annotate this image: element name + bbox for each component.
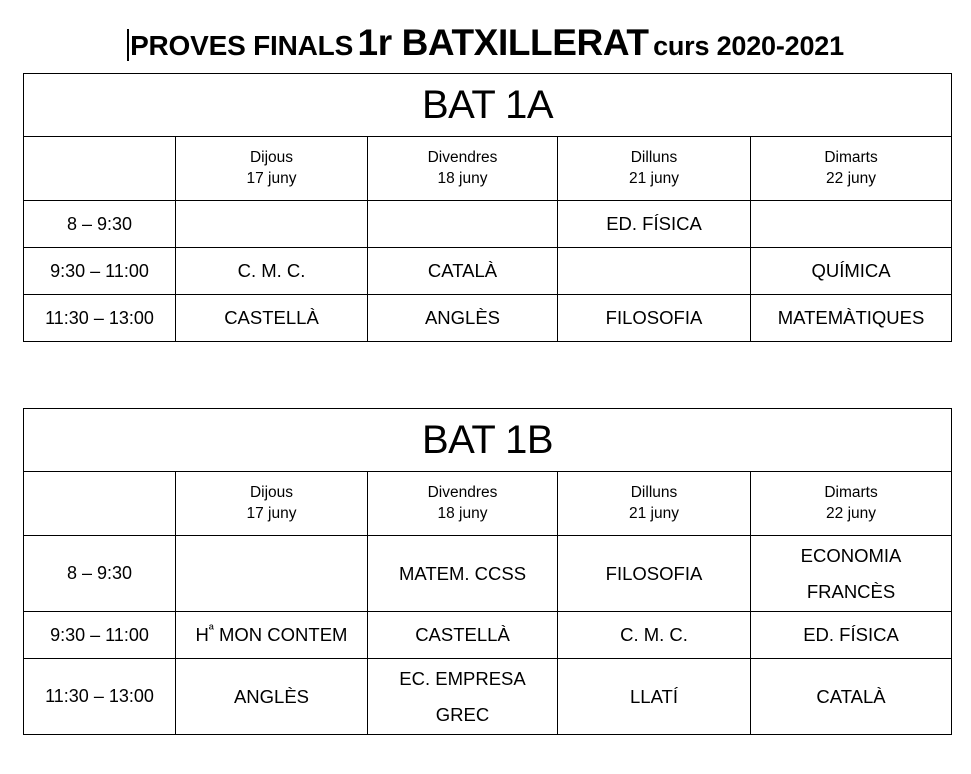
table-header-row: Dijous 17 juny Divendres 18 juny Dilluns… — [24, 472, 952, 536]
exam-cell — [368, 201, 558, 248]
text-cursor-icon — [127, 29, 129, 61]
day-date-label: 21 juny — [558, 169, 750, 190]
table-row: 11:30 – 13:00 CASTELLÀ ANGLÈS FILOSOFIA … — [24, 295, 952, 342]
exam-cell: C. M. C. — [558, 612, 751, 659]
time-slot-label: 8 – 9:30 — [24, 536, 176, 612]
exam-cell: QUÍMICA — [751, 248, 952, 295]
exam-subject-label: CASTELLÀ — [368, 617, 557, 652]
exam-subject-label: CATALÀ — [368, 253, 557, 288]
exam-cell — [751, 201, 952, 248]
exam-subject-label: Hª MON CONTEM — [176, 617, 367, 652]
class-name-heading: BAT 1B — [24, 409, 952, 472]
exam-subject-label: FILOSOFIA — [558, 300, 750, 335]
exam-subject-label: ED. FÍSICA — [751, 617, 951, 652]
day-of-week-label: Dilluns — [558, 483, 750, 504]
exam-cell: ECONOMIAFRANCÈS — [751, 536, 952, 612]
day-header-dijous: Dijous 17 juny — [176, 137, 368, 201]
exam-schedule-table-bat1b: BAT 1B Dijous 17 juny Divendres 18 juny … — [23, 408, 952, 735]
exam-cell: LLATÍ — [558, 659, 751, 735]
exam-cell: CATALÀ — [751, 659, 952, 735]
page-title-part-proves-finals: PROVES FINALS — [130, 30, 353, 61]
day-date-label: 21 juny — [558, 504, 750, 525]
exam-subject-label: GREC — [368, 697, 557, 732]
exam-cell: ANGLÈS — [176, 659, 368, 735]
exam-subject-label: ED. FÍSICA — [558, 206, 750, 241]
day-date-label: 22 juny — [751, 504, 951, 525]
day-date-label: 17 juny — [176, 169, 367, 190]
table-title-row: BAT 1A — [24, 74, 952, 137]
exam-cell: ED. FÍSICA — [558, 201, 751, 248]
exam-cell: ANGLÈS — [368, 295, 558, 342]
table-title-row: BAT 1B — [24, 409, 952, 472]
exam-cell: Hª MON CONTEM — [176, 612, 368, 659]
table-header-row: Dijous 17 juny Divendres 18 juny Dilluns… — [24, 137, 952, 201]
table-row: 9:30 – 11:00 C. M. C. CATALÀ QUÍMICA — [24, 248, 952, 295]
page-title: PROVES FINALS 1r BATXILLERAT curs 2020-2… — [0, 24, 971, 61]
day-header-dijous: Dijous 17 juny — [176, 472, 368, 536]
exam-subject-label: CASTELLÀ — [176, 300, 367, 335]
day-header-dilluns: Dilluns 21 juny — [558, 137, 751, 201]
day-of-week-label: Dijous — [176, 483, 367, 504]
time-column-header — [24, 137, 176, 201]
time-slot-label: 8 – 9:30 — [24, 201, 176, 248]
table-row: 8 – 9:30 ED. FÍSICA — [24, 201, 952, 248]
day-date-label: 18 juny — [368, 504, 557, 525]
exam-cell: FILOSOFIA — [558, 536, 751, 612]
exam-cell: CASTELLÀ — [176, 295, 368, 342]
exam-subject-label: QUÍMICA — [751, 253, 951, 288]
time-column-header — [24, 472, 176, 536]
day-header-divendres: Divendres 18 juny — [368, 472, 558, 536]
time-slot-label: 11:30 – 13:00 — [24, 659, 176, 735]
day-header-dimarts: Dimarts 22 juny — [751, 472, 952, 536]
exam-cell: ED. FÍSICA — [751, 612, 952, 659]
exam-subject-label: FILOSOFIA — [558, 556, 750, 591]
day-of-week-label: Dimarts — [751, 148, 951, 169]
exam-subject-label: MATEMÀTIQUES — [751, 300, 951, 335]
exam-cell: C. M. C. — [176, 248, 368, 295]
exam-subject-label: ECONOMIA — [751, 538, 951, 573]
table-row: 9:30 – 11:00 Hª MON CONTEM CASTELLÀ C. M… — [24, 612, 952, 659]
exam-schedule-table-bat1a: BAT 1A Dijous 17 juny Divendres 18 juny … — [23, 73, 952, 342]
day-date-label: 18 juny — [368, 169, 557, 190]
exam-cell — [176, 201, 368, 248]
exam-subject-label: ANGLÈS — [368, 300, 557, 335]
exam-subject-label: CATALÀ — [751, 679, 951, 714]
exam-cell: MATEM. CCSS — [368, 536, 558, 612]
exam-cell: CASTELLÀ — [368, 612, 558, 659]
day-header-dilluns: Dilluns 21 juny — [558, 472, 751, 536]
day-of-week-label: Divendres — [368, 148, 557, 169]
exam-subject-label: C. M. C. — [176, 253, 367, 288]
time-slot-label: 11:30 – 13:00 — [24, 295, 176, 342]
exam-cell — [558, 248, 751, 295]
day-of-week-label: Dilluns — [558, 148, 750, 169]
exam-subject-label: C. M. C. — [558, 617, 750, 652]
day-of-week-label: Dijous — [176, 148, 367, 169]
day-of-week-label: Divendres — [368, 483, 557, 504]
table-row: 11:30 – 13:00 ANGLÈS EC. EMPRESAGREC LLA… — [24, 659, 952, 735]
exam-subject-label: LLATÍ — [558, 679, 750, 714]
table-row: 8 – 9:30 MATEM. CCSS FILOSOFIA ECONOMIAF… — [24, 536, 952, 612]
exam-cell: EC. EMPRESAGREC — [368, 659, 558, 735]
day-date-label: 17 juny — [176, 504, 367, 525]
exam-cell: FILOSOFIA — [558, 295, 751, 342]
exam-subject-label: ANGLÈS — [176, 679, 367, 714]
day-header-divendres: Divendres 18 juny — [368, 137, 558, 201]
time-slot-label: 9:30 – 11:00 — [24, 248, 176, 295]
day-header-dimarts: Dimarts 22 juny — [751, 137, 952, 201]
day-of-week-label: Dimarts — [751, 483, 951, 504]
exam-subject-label: MATEM. CCSS — [368, 556, 557, 591]
exam-subject-label: EC. EMPRESA — [368, 661, 557, 696]
exam-cell — [176, 536, 368, 612]
page-title-part-school-year: curs 2020-2021 — [653, 31, 844, 61]
class-name-heading: BAT 1A — [24, 74, 952, 137]
day-date-label: 22 juny — [751, 169, 951, 190]
exam-subject-label: FRANCÈS — [751, 574, 951, 609]
exam-cell: MATEMÀTIQUES — [751, 295, 952, 342]
time-slot-label: 9:30 – 11:00 — [24, 612, 176, 659]
exam-cell: CATALÀ — [368, 248, 558, 295]
page-title-part-course-level: 1r BATXILLERAT — [358, 22, 649, 63]
